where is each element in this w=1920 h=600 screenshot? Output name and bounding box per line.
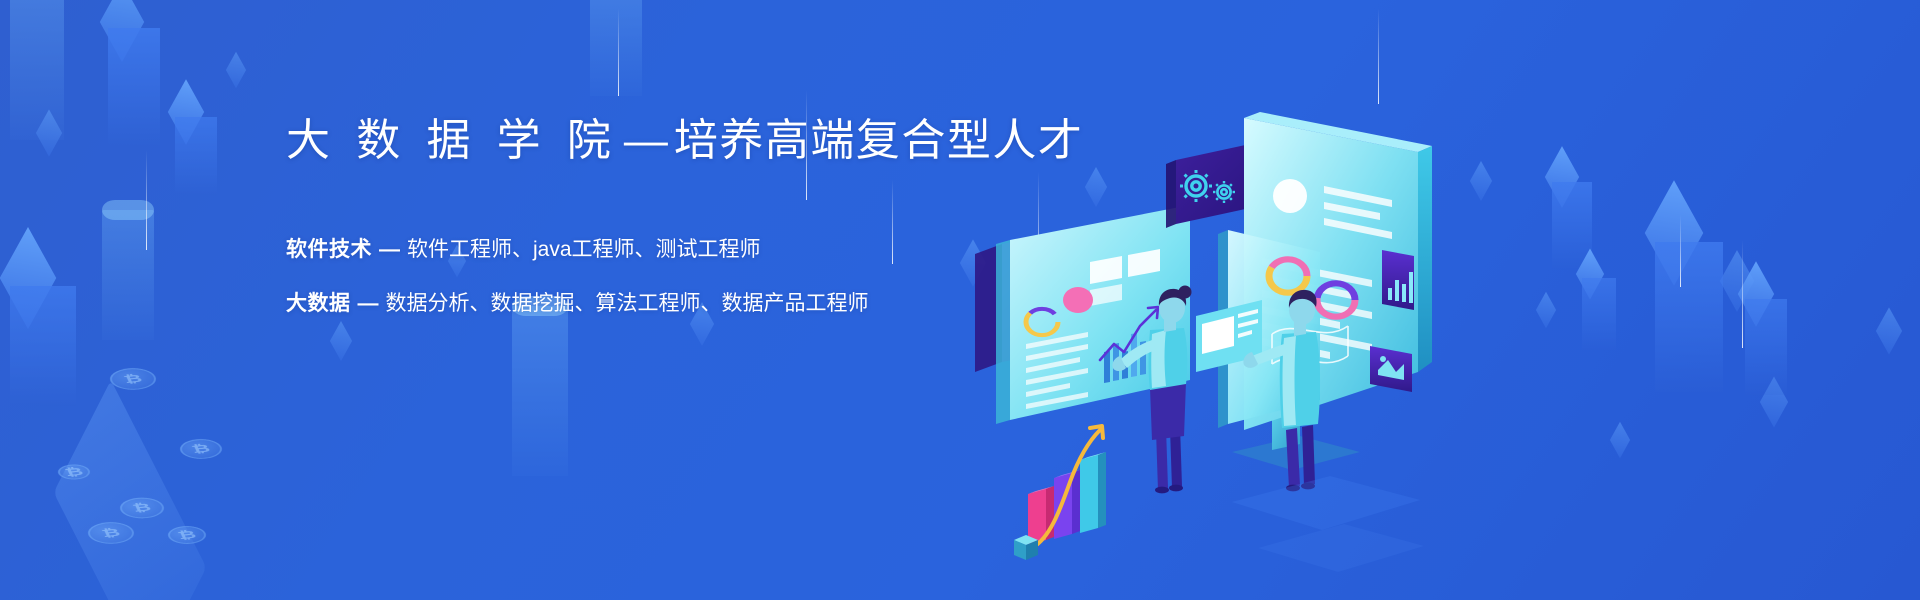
subtitle-bigdata: 大数据—数据分析、数据挖掘、算法工程师、数据产品工程师 <box>286 292 1083 316</box>
subtitle-lead: 软件技术 <box>286 238 372 261</box>
headline-dash: — <box>618 116 674 165</box>
avatar-circle <box>1273 179 1307 213</box>
subtitle-body: 软件工程师、java工程师、测试工程师 <box>407 238 761 261</box>
image-thumbnail <box>1370 346 1412 392</box>
page-title: 大 数 据 学 院—培养高端复合型人才 <box>286 112 1083 170</box>
subtitle-dash: — <box>351 292 386 315</box>
floating-bars <box>1014 426 1106 560</box>
ground-shadow <box>1232 476 1424 572</box>
headline-main: 大 数 据 学 院 <box>286 116 618 165</box>
headline-tail: 培养高端复合型人才 <box>674 116 1084 165</box>
subtitle-software: 软件技术—软件工程师、java工程师、测试工程师 <box>286 238 1083 262</box>
banner-copy: 大 数 据 学 院—培养高端复合型人才 软件技术—软件工程师、java工程师、测… <box>286 112 1083 316</box>
subtitle-body: 数据分析、数据挖掘、算法工程师、数据产品工程师 <box>386 292 869 315</box>
gears-panel <box>1166 144 1250 228</box>
monitor-bar-widget <box>1382 250 1414 310</box>
subtitle-dash: — <box>372 238 407 261</box>
small-cube <box>1014 535 1038 560</box>
hero-banner: ₿ ₿ ₿ ₿ ₿ ₿ 大 数 据 学 院—培养高端复合型人才 软件技术—软件工… <box>0 0 1920 600</box>
subtitle-lead: 大数据 <box>286 292 351 315</box>
